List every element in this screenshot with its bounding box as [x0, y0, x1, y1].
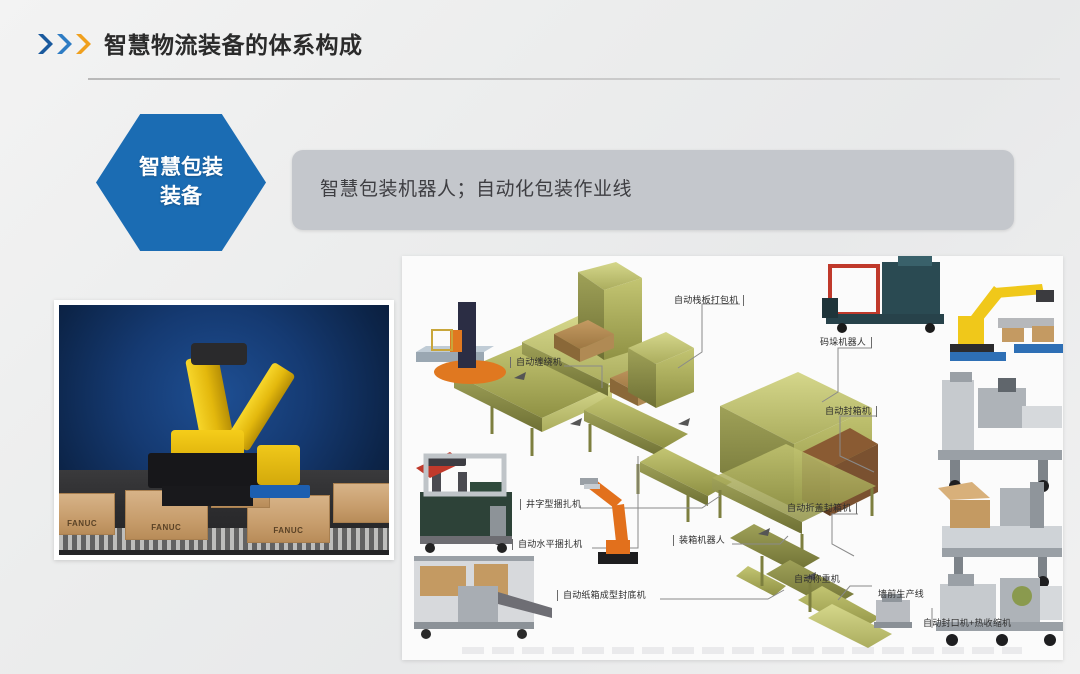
chevron-group-icon: [36, 32, 98, 56]
hex-badge-line-1: 智慧包装: [139, 154, 223, 182]
title-divider: [88, 78, 1060, 80]
packaging-line-diagram: 自动缠绕机 自动水平捆扎机 井字型捆扎机 自动纸箱成型封底机 装箱机器人 自动栈…: [402, 256, 1063, 660]
robot-wrist: [257, 445, 300, 485]
diagram-label-flap-folding-sealer: 自动折盖封箱机: [787, 503, 857, 514]
thumb-pallet-strapper: [822, 256, 944, 333]
diagram-label-auto-weigher: 自动称重机: [794, 574, 840, 585]
thumb-case-packing-robot: [580, 478, 638, 564]
diagram-label-case-packing-robot: 装箱机器人: [673, 535, 725, 546]
photo-box: [333, 483, 389, 523]
diagram-label-sealer-shrink: 自动封口机+热收缩机: [923, 618, 1011, 629]
description-text: 智慧包装机器人；自动化包装作业线: [320, 174, 632, 201]
robot-photo-frame: FANUC FANUC FANUC: [54, 300, 394, 560]
page-title: 智慧物流装备的体系构成: [104, 26, 363, 60]
box-brand-label: FANUC: [59, 519, 114, 528]
robot-base: [148, 453, 267, 488]
diagram-label-auto-stretch-wrapper: 自动缠绕机: [510, 357, 562, 368]
chevron-right-icon-3: [74, 32, 92, 56]
description-panel: 智慧包装机器人；自动化包装作业线: [292, 150, 1014, 230]
hex-badge-label: 智慧包装 装备: [96, 114, 266, 251]
diagram-graphic: [402, 256, 1063, 660]
diagram-label-pallet-strapper: 自动栈板打包机: [674, 295, 744, 306]
robot-elbow-joint: [191, 343, 247, 366]
box-brand-label: FANUC: [248, 526, 329, 535]
thumb-flap-folding-sealer: [938, 482, 1062, 588]
robot-gripper: [250, 485, 309, 498]
diagram-label-carton-sealer: 自动封箱机: [825, 406, 877, 417]
chevron-right-icon-2: [55, 32, 73, 56]
thumb-carton-sealer: [938, 372, 1062, 492]
hex-badge-line-2: 装备: [160, 183, 202, 211]
robot-photo: FANUC FANUC FANUC: [59, 305, 389, 555]
photo-box: FANUC: [59, 493, 115, 536]
diagram-label-horizontal-strapper: 自动水平捆扎机: [512, 539, 582, 550]
diagram-label-carton-erector: 自动纸箱成型封底机: [557, 590, 646, 601]
diagram-label-cross-strapper: 井字型捆扎机: [520, 499, 581, 510]
box-brand-label: FANUC: [126, 523, 207, 532]
diagram-label-front-line: 墙前生产线: [878, 589, 924, 600]
thumb-stretch-wrapper: [416, 302, 506, 384]
diagram-watermark: [462, 647, 1022, 654]
slide-root: 智慧物流装备的体系构成 智慧包装 装备 智慧包装机器人；自动化包装作业线 FAN…: [0, 0, 1080, 674]
chevron-right-icon-1: [36, 32, 54, 56]
diagram-label-palletizing-robot: 码垛机器人: [820, 337, 872, 348]
slide-header: 智慧物流装备的体系构成: [0, 0, 1080, 80]
thumb-carton-erector: [414, 556, 552, 639]
category-hex-badge[interactable]: 智慧包装 装备: [96, 114, 266, 251]
thumb-palletizing-robot: [950, 284, 1063, 361]
central-case-packer: [712, 372, 878, 562]
